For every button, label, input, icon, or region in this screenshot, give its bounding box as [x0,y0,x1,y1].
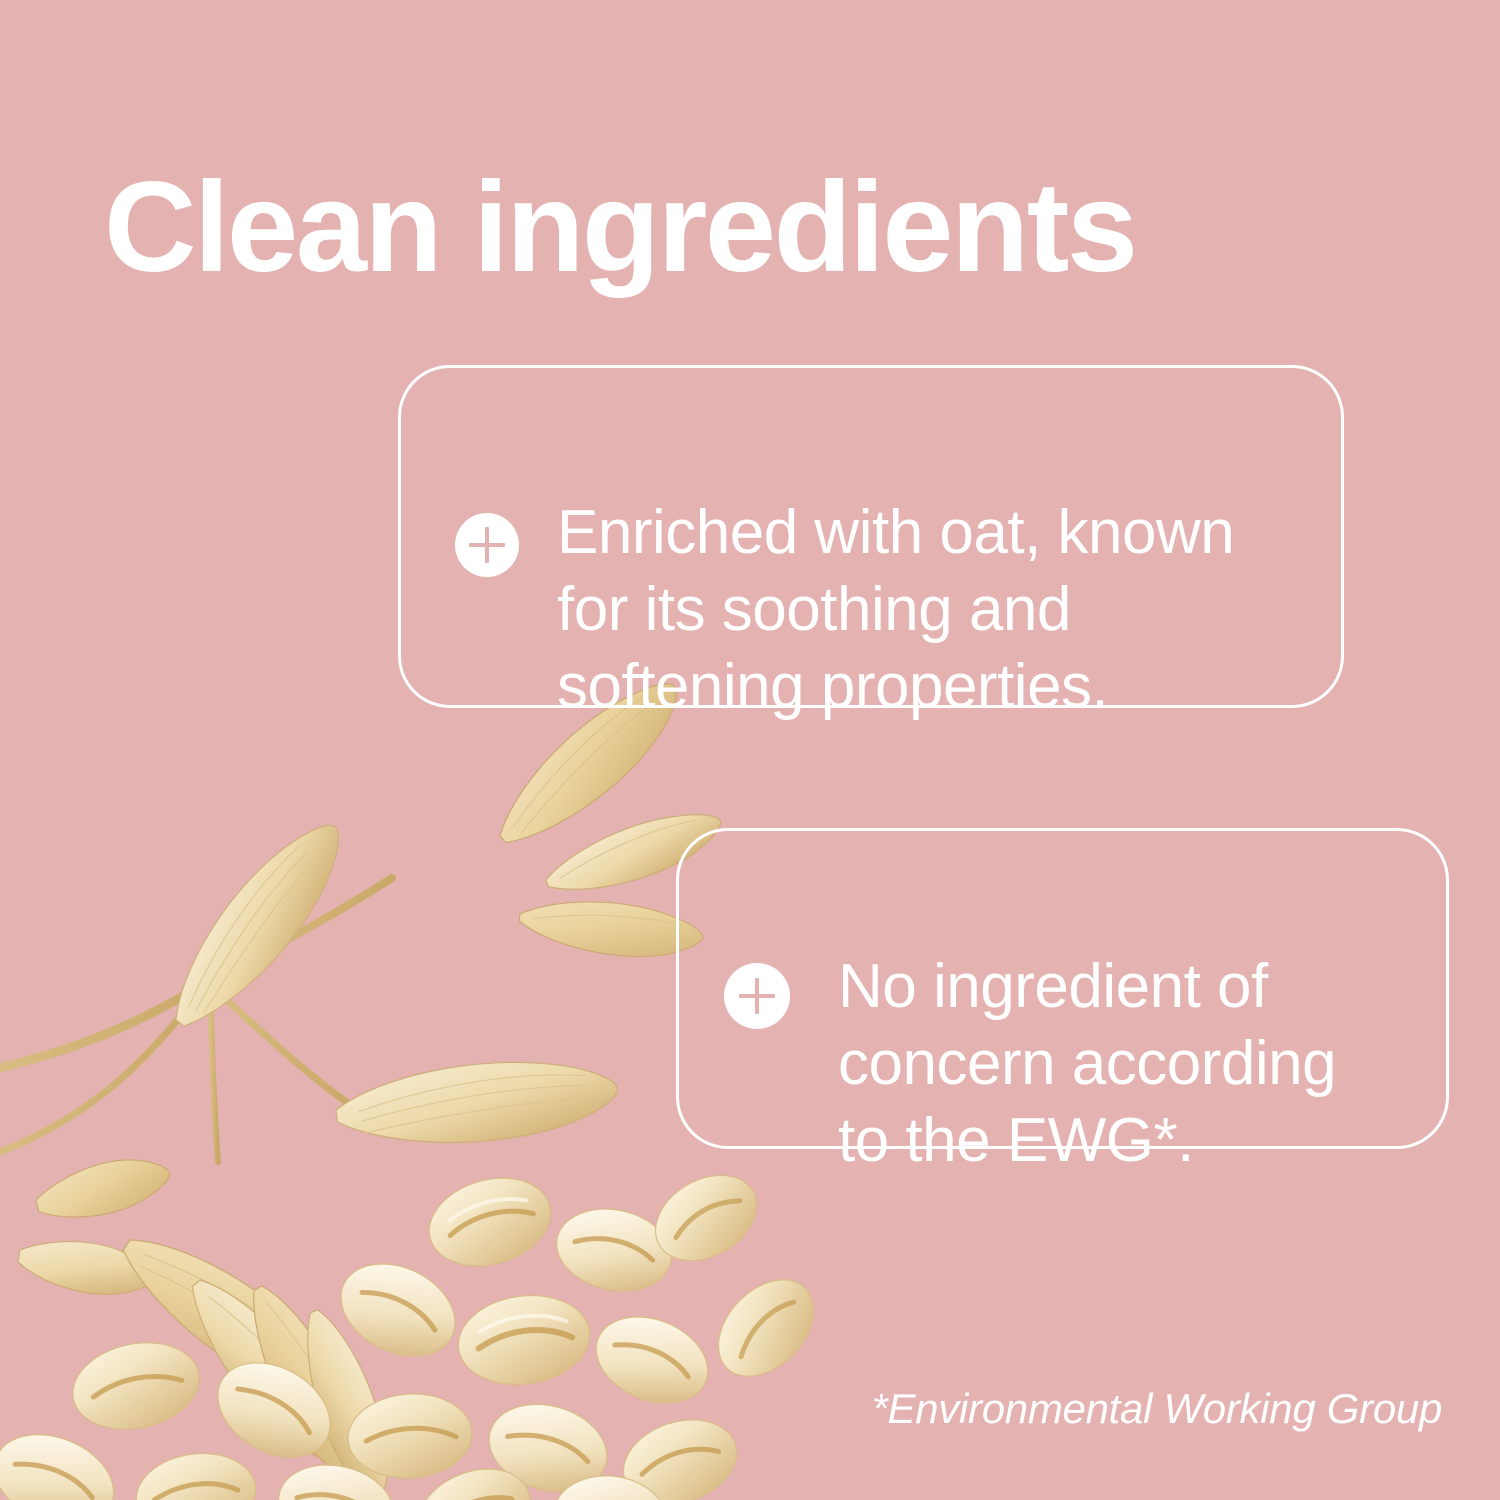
footnote-ewg-definition: *Environmental Working Group [871,1385,1442,1433]
plus-icon-vertical-bar [485,527,489,563]
plus-icon [455,513,519,577]
page-title: Clean ingredients [104,164,1136,292]
feature-text-no-ingredient-of-concern: No ingredient of concern according to th… [838,948,1438,1179]
product-infographic: Clean ingredients Enriched with oat, kno… [0,0,1500,1500]
feature-text-oat-enriched: Enriched with oat, known for its soothin… [557,494,1327,725]
plus-icon-vertical-bar [755,978,760,1015]
plus-icon [724,963,790,1029]
